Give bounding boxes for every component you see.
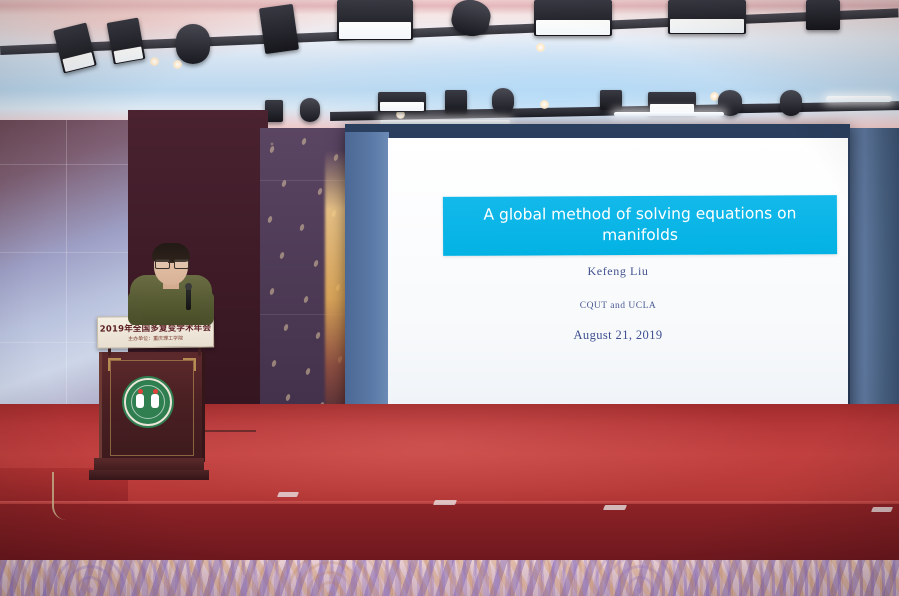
power-cable — [52, 472, 88, 520]
speaker-glasses — [155, 259, 187, 267]
floor-cable-plate — [433, 500, 457, 505]
stage-light-fixture — [806, 0, 840, 30]
audience-floor-carpet — [0, 560, 899, 596]
stage-light-fixture — [259, 4, 299, 54]
stage-light-fixture — [337, 0, 413, 40]
microphone-head — [185, 283, 192, 290]
emblem-dot — [153, 389, 158, 394]
floor-cable-plate — [277, 492, 299, 497]
stage-light-fixture — [300, 98, 320, 122]
ceiling-spot-light — [536, 43, 545, 52]
stage-front-face — [0, 504, 899, 566]
ceiling-spot-light — [173, 60, 182, 69]
speaker — [130, 245, 212, 325]
projection-screen: A global method of solving equations on … — [388, 138, 848, 423]
ceiling-light-strip — [614, 112, 724, 116]
stage-light-fixture — [378, 92, 426, 112]
speaker-arm — [128, 291, 142, 325]
stage-light-fixture — [648, 92, 696, 114]
emblem-figure — [151, 394, 159, 408]
university-emblem — [124, 378, 172, 426]
right-pillar — [846, 128, 899, 428]
ceiling-spot-light — [540, 100, 549, 109]
slide-date: August 21, 2019 — [388, 328, 848, 343]
stage-light-fixture — [668, 0, 746, 34]
stage-light-fixture — [492, 88, 514, 114]
slide-author: Kefeng Liu — [388, 264, 848, 279]
emblem-dot — [138, 389, 143, 394]
screen-left-shadow — [345, 132, 389, 429]
stage-light-fixture — [780, 90, 802, 116]
floor-cable-plate — [603, 505, 627, 510]
stage-light-fixture — [534, 0, 612, 36]
conference-hall-photo: A global method of solving equations on … — [0, 0, 899, 596]
floor-cable-plate — [871, 507, 893, 512]
stage-light-fixture — [600, 90, 622, 110]
podium-corner-ornament — [108, 358, 121, 371]
microphone — [186, 288, 191, 310]
speaker-arm — [200, 291, 214, 325]
stage-light-fixture — [445, 90, 467, 114]
slide-title: A global method of solving equations on … — [443, 195, 837, 256]
ceiling-spot-light — [150, 57, 159, 66]
emblem-figure — [136, 394, 144, 408]
slide-affiliation: CQUT and UCLA — [388, 301, 848, 311]
ceiling-light-strip — [826, 96, 892, 102]
conference-sign-subtitle: 主办单位：重庆理工学院 — [98, 334, 213, 342]
podium-corner-ornament — [183, 358, 196, 371]
podium-base-lower — [89, 470, 209, 480]
stage-light-fixture — [176, 24, 210, 64]
